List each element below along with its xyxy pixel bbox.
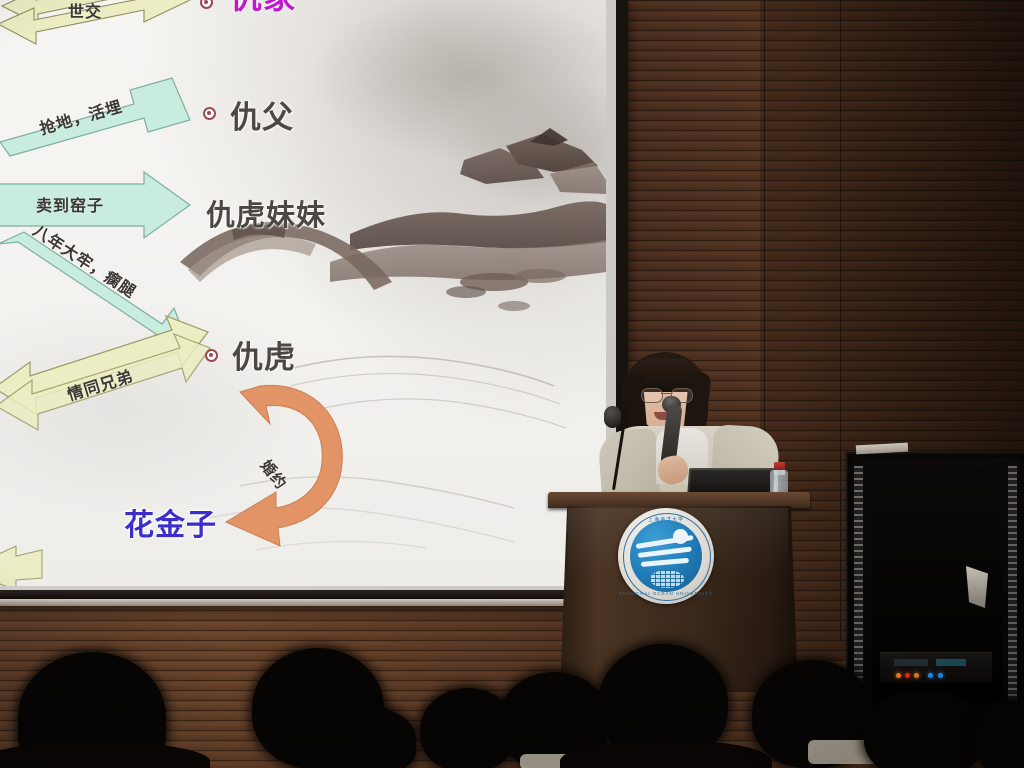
- school-emblem: 上海海洋大学 SHANGHAI OCEAN UNIVERSITY: [618, 508, 714, 604]
- node-dot-chou-fu: [203, 107, 216, 120]
- glasses-lens-left: [641, 388, 663, 403]
- rack-led: [938, 673, 943, 678]
- arrow-ba-nian-dalao: [0, 232, 190, 350]
- arrow-label-shi-jiao: 世交: [68, 0, 102, 22]
- wall-seam: [840, 0, 843, 640]
- glasses-bridge: [661, 393, 671, 394]
- projection-screen: 世交 抢地，活埋 卖到窑子 八年大牢，瘸腿 情同兄弟 婚约 仇家 仇父 仇虎妹妹…: [0, 0, 616, 590]
- node-label-chou-jia: 仇家: [230, 0, 296, 18]
- rack-led: [928, 673, 933, 678]
- node-dot-chou-hu: [205, 349, 218, 362]
- arrow-hun-yue: [226, 385, 342, 546]
- av-equipment-rack: [846, 452, 1024, 724]
- arrow-partial-bottom: [0, 546, 42, 586]
- rack-led: [896, 673, 901, 678]
- screen-bottom-lip: [0, 599, 634, 606]
- projection-screen-frame: 世交 抢地，活埋 卖到窑子 八年大牢，瘸腿 情同兄弟 婚约 仇家 仇父 仇虎妹妹…: [0, 0, 628, 602]
- rack-display: [894, 659, 928, 666]
- node-label-chou-hu-mei: 仇虎妹妹: [206, 192, 326, 234]
- audience-head: [290, 704, 416, 768]
- relationship-arrows: [0, 0, 606, 586]
- gooseneck-microphone-head: [604, 406, 621, 428]
- emblem-disc: [630, 520, 702, 592]
- rack-amplifier-unit: [880, 652, 992, 683]
- rack-display: [936, 659, 966, 666]
- node-label-hua-jin-zi: 花金子: [124, 500, 217, 544]
- node-label-chou-fu: 仇父: [230, 92, 294, 137]
- rack-rail-right: [1008, 466, 1017, 710]
- presentation-slide: 世交 抢地，活埋 卖到窑子 八年大牢，瘸腿 情同兄弟 婚约 仇家 仇父 仇虎妹妹…: [0, 0, 606, 586]
- node-label-chou-hu: 仇虎: [232, 332, 296, 377]
- emblem-globe: [650, 570, 684, 588]
- rack-led: [905, 673, 910, 678]
- emblem-wave: [641, 558, 689, 567]
- rack-top-paper: [856, 443, 908, 455]
- arrow-label-mai-dao-yaozi: 卖到窑子: [36, 192, 104, 216]
- rack-led: [914, 673, 919, 678]
- podium-top-surface: [548, 492, 810, 508]
- emblem-wave: [638, 546, 692, 558]
- lecture-hall-scene: 世交 抢地，活埋 卖到窑子 八年大牢，瘸腿 情同兄弟 婚约 仇家 仇父 仇虎妹妹…: [0, 0, 1024, 768]
- emblem-text-english: SHANGHAI OCEAN UNIVERSITY: [618, 591, 714, 596]
- rack-rail-left: [854, 466, 863, 710]
